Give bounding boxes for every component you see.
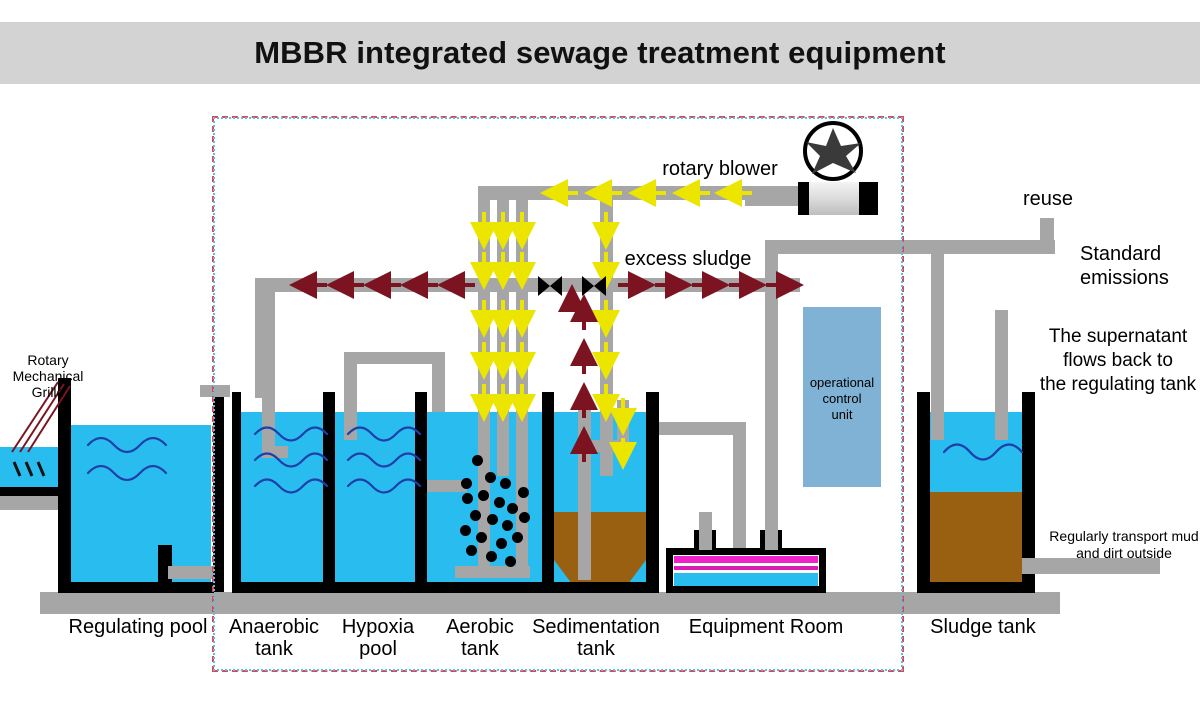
sludge-tank-inlet-pipe-right [995, 310, 1008, 440]
tank-label-regulating-pool: Regulating pool [60, 616, 216, 638]
rotary-grille-label: Rotary Mechanical Grille [0, 352, 96, 400]
diagram-canvas: MBBR integrated sewage treatment equipme… [0, 0, 1200, 723]
regulating-pool-inlet-water [0, 447, 62, 487]
page-title: MBBR integrated sewage treatment equipme… [0, 22, 1200, 84]
regulating-pool-water [71, 425, 211, 582]
sludge-tank-floor [917, 582, 1035, 593]
excess-sludge-label: excess sludge [598, 248, 778, 270]
regulating-pool-inlet-floor [0, 487, 62, 496]
tank-label-equipment-room: Equipment Room [676, 616, 856, 638]
standard-emissions-label: Standard emissions [1080, 242, 1200, 290]
sludge-tank-left-wall [917, 392, 930, 592]
supernatant-label: The supernatant flows back to the regula… [1036, 325, 1200, 397]
regulating-pool-floor [58, 582, 214, 593]
reuse-label: reuse [1008, 188, 1088, 210]
transport-mud-label: Regularly transport mud and dirt outside [1048, 528, 1200, 562]
sludge-tank-inlet-pipe-left [931, 240, 944, 440]
regulating-pool-left-wall [58, 378, 71, 592]
regulating-pool-inlet-pipe [0, 496, 62, 510]
system-boundary-frame-underlay [213, 117, 903, 671]
title-bar: MBBR integrated sewage treatment equipme… [0, 22, 1200, 84]
reuse-stub-pipe [1040, 218, 1054, 242]
tank-label-aerobic-tank: Aerobic tank [432, 616, 528, 660]
tank-label-anaerobic-tank: Anaerobic tank [224, 616, 324, 660]
tank-label-hypoxia-pool: Hypoxia pool [330, 616, 426, 660]
rotary-blower-label: rotary blower [625, 158, 815, 180]
tank-label-sedimentation-tank: Sedimentation tank [526, 616, 666, 660]
sludge-tank-sludge [930, 492, 1022, 582]
tank-label-sludge-tank: Sludge tank [908, 616, 1058, 638]
